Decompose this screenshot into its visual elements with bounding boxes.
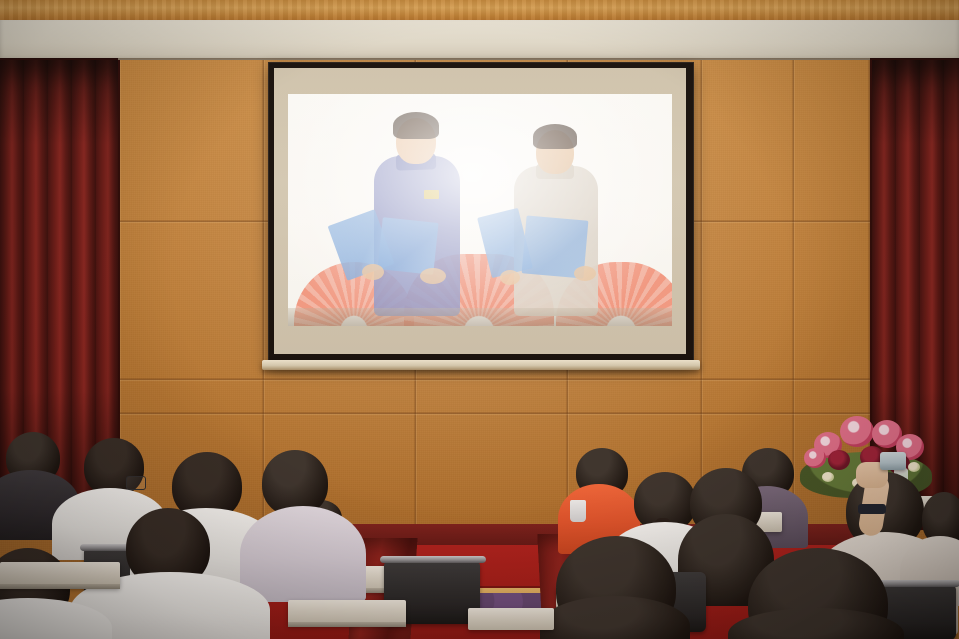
conference-room-photo: Audience seated in a conference room wat…: [0, 0, 959, 639]
projection-screen: [268, 62, 696, 382]
screen-roller-bar: [262, 360, 700, 370]
rose-bloom: [828, 450, 850, 470]
desk: [468, 608, 554, 630]
smartphone[interactable]: [880, 452, 906, 470]
wall-seam-vertical: [262, 60, 265, 580]
ceiling-soffit: [0, 20, 959, 62]
lily-bloom: [840, 416, 874, 447]
desk-edge: [0, 584, 120, 589]
projector-glow: [288, 94, 672, 326]
flower-bud: [822, 472, 834, 482]
desk-edge: [288, 622, 406, 627]
shoulders: [240, 506, 366, 602]
glasses-icon: [126, 476, 146, 490]
ceiling-beam: [0, 0, 959, 22]
flower-bud: [908, 462, 920, 472]
chair-rail: [380, 556, 486, 563]
screen-surface: [274, 68, 686, 354]
projected-slide: [288, 94, 672, 326]
lily-bloom: [804, 448, 826, 468]
paper-cup[interactable]: [570, 500, 586, 522]
wristband: [858, 504, 886, 514]
